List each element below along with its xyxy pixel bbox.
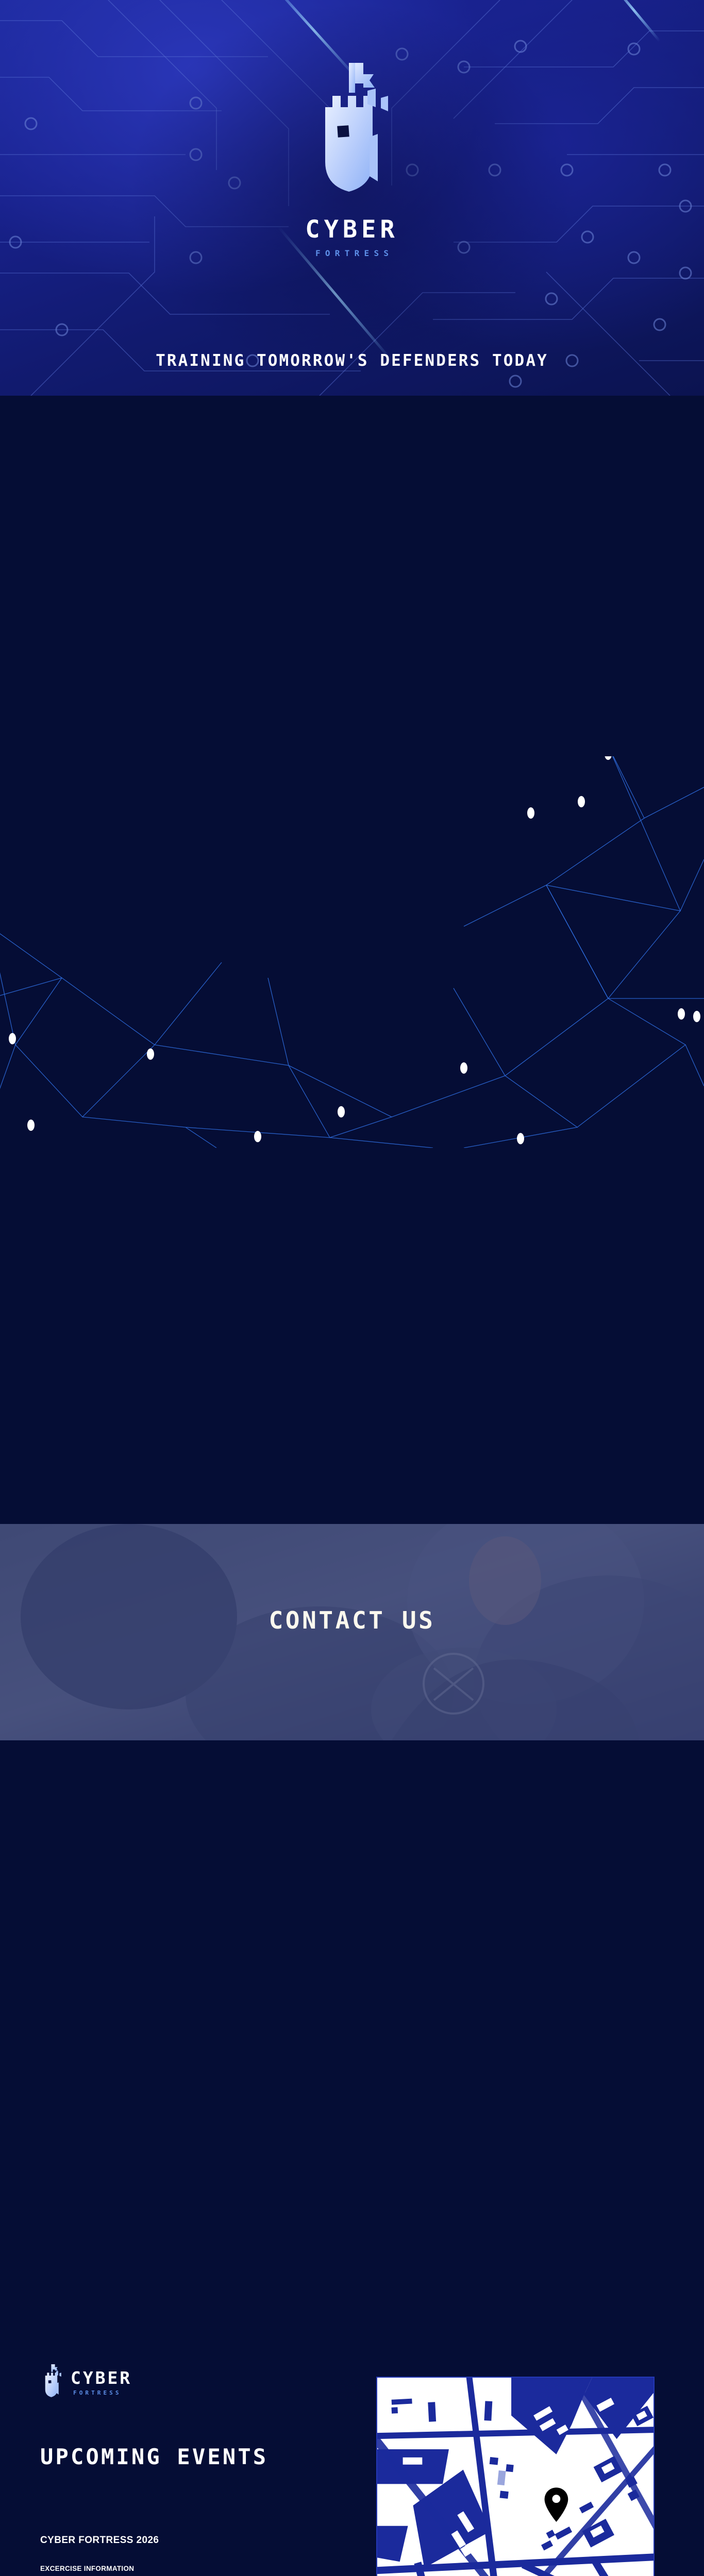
events-title: UPCOMING EVENTS (40, 2444, 268, 2470)
events-section: CYBER FORTRESS UPCOMING EVENTS CYBER FOR… (0, 1148, 704, 1524)
event-name: CYBER FORTRESS 2026 (40, 2535, 159, 2546)
brand-name: CYBER (305, 215, 398, 244)
brand-subtitle: FORTRESS (311, 248, 394, 258)
contact-title: CONTACT US (0, 1606, 704, 1634)
brand-name: CYBER (71, 2369, 132, 2386)
event-meta-line: DATE (40, 2574, 134, 2576)
footer-section: EMAIL info@Cyberfortress.com POC MAJ JOE… (0, 1740, 704, 1963)
castle-fortress-flag-icon (40, 2364, 64, 2402)
event-meta-line: EXCERCISE INFORMATION (40, 2564, 134, 2574)
contact-banner: CONTACT US (0, 1524, 704, 1740)
about-section: ABOUT US (0, 396, 704, 756)
location-map[interactable] (376, 2377, 655, 2576)
footer-logo: CYBER FORTRESS (40, 2364, 132, 2402)
brand-subtitle: FORTRESS (71, 2389, 132, 2396)
castle-fortress-flag-icon (306, 61, 398, 210)
advantages-section: OUR ADVANTAGES REAL-WORLD TRAINING Throu… (0, 756, 704, 1148)
hero-tagline: TRAINING TOMORROW'S DEFENDERS TODAY (0, 351, 704, 370)
network-mesh-background (0, 756, 704, 1148)
event-meta: EXCERCISE INFORMATION DATE LOCATION (40, 2564, 134, 2576)
hero-section: CYBER FORTRESS TRAINING TOMORROW'S DEFEN… (0, 0, 704, 396)
